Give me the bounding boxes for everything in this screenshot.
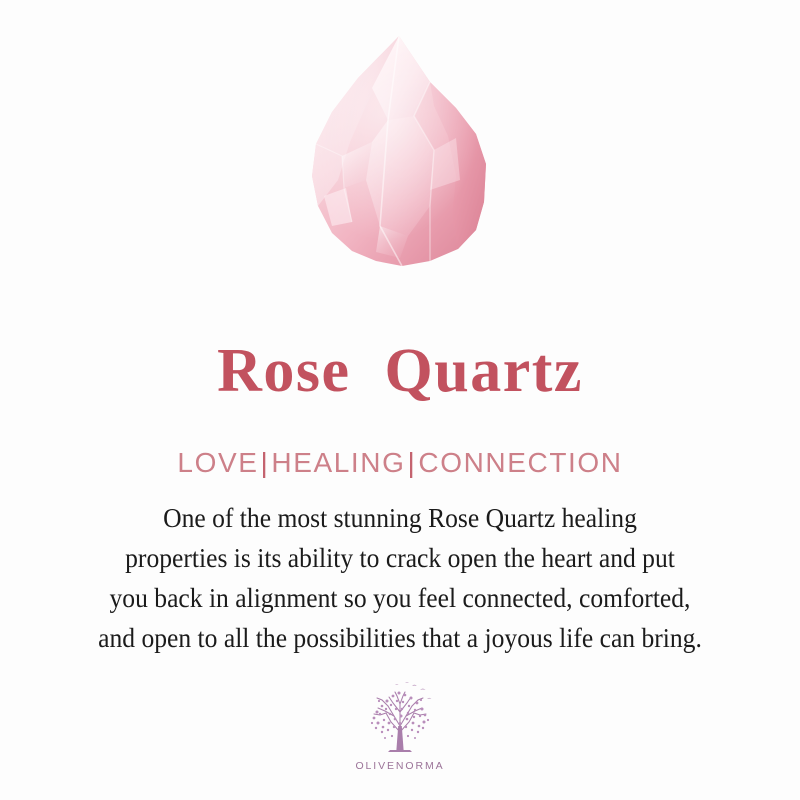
flying-birds-icon [395, 682, 431, 699]
product-image-container [0, 30, 800, 310]
description-line: One of the most stunning Rose Quartz hea… [47, 498, 754, 538]
page-title: Rose Quartz [0, 336, 800, 406]
rose-quartz-info-card: Rose Quartz LOVE|HEALING|CONNECTION One … [0, 0, 800, 800]
description-text: One of the most stunning Rose Quartz hea… [47, 498, 754, 658]
keyword-separator: | [406, 447, 419, 478]
keyword-love: LOVE [177, 447, 258, 478]
description-line: you back in alignment so you feel connec… [47, 578, 754, 618]
keyword-connection: CONNECTION [418, 447, 622, 478]
description-line: and open to all the possibilities that a… [47, 618, 754, 658]
tree-trunk-base [388, 726, 412, 752]
rose-quartz-crystal [280, 30, 520, 280]
brand-logo: OLIVENORMA [0, 678, 800, 772]
keyword-healing: HEALING [271, 447, 405, 478]
crystal-glow [312, 36, 486, 266]
tree-of-life-icon [357, 678, 443, 758]
brand-wordmark: OLIVENORMA [355, 760, 444, 772]
keyword-separator: | [259, 447, 272, 478]
description-line: properties is its ability to crack open … [47, 538, 754, 578]
keyword-list: LOVE|HEALING|CONNECTION [0, 446, 800, 480]
